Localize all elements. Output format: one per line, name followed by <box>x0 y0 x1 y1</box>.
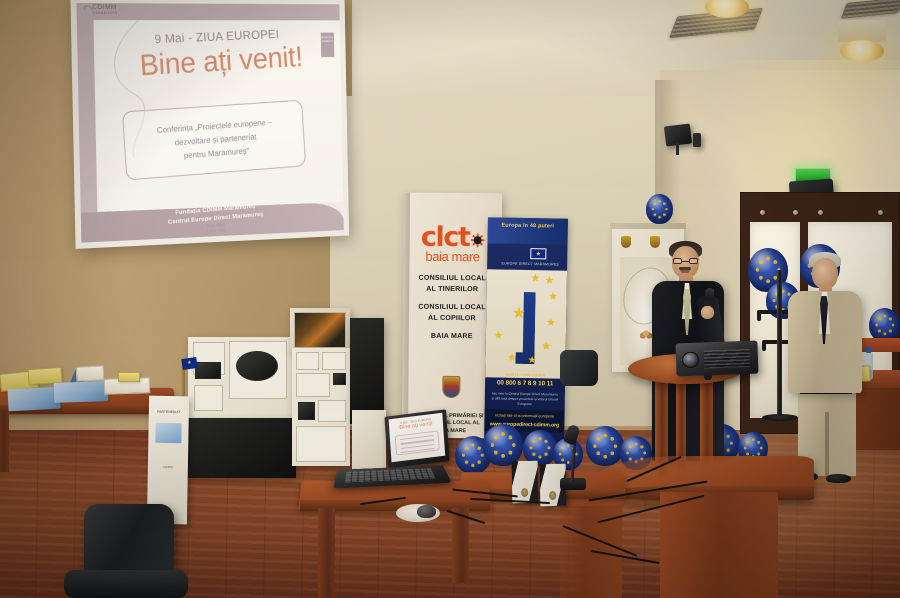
exhibit-panel-dark <box>350 318 384 424</box>
europe-direct-badge: EUROPE DIRECT <box>321 33 335 58</box>
projector-lens-icon <box>682 352 700 369</box>
projection-screen: CDIMM MARAMUREȘ EUROPE DIRECT 9 Mai - ZI… <box>70 0 349 249</box>
sketch-drawing <box>333 373 346 385</box>
banner-europe-direct: Europa în 48 puteri EUROPE DIRECT MARAMU… <box>484 217 568 444</box>
balloon <box>869 308 900 342</box>
back-desk <box>856 338 900 352</box>
door-stud-icon <box>878 210 883 215</box>
cdimm-logo-subtext: MARAMUREȘ <box>92 12 117 15</box>
banner-pole <box>402 193 410 439</box>
front-desk-pedestal <box>660 492 778 598</box>
star-icon: ★ <box>507 354 516 364</box>
sketch-drawing <box>296 352 319 370</box>
lamp-housing <box>838 20 886 42</box>
star-icon: ★ <box>545 276 554 286</box>
painting <box>294 312 346 348</box>
laptop-screen[interactable]: 9 Mai - ZIUA EUROPEI Bine ați venit! <box>384 409 449 468</box>
eu-banner-small-text: sau vino la Centrul Europe Direct Maramu… <box>489 391 561 407</box>
coat-hook-icon <box>762 342 766 351</box>
star-icon: ★ <box>549 292 558 302</box>
office-chair[interactable] <box>560 350 598 386</box>
projector-vents <box>704 349 751 369</box>
door-stud-icon <box>818 210 823 215</box>
door-stud-icon <box>760 210 765 215</box>
exhibit-panel <box>292 348 350 466</box>
exhibit-panel <box>188 337 292 423</box>
star-icon: ★ <box>546 318 555 328</box>
coat-rack <box>777 270 782 420</box>
sketch-drawing <box>322 352 346 370</box>
sketch-drawing <box>296 426 346 462</box>
sketch-drawing <box>298 402 315 420</box>
coat-rack-base <box>762 414 798 421</box>
brochure <box>54 381 109 403</box>
coat-hook-icon <box>757 312 761 321</box>
balloon <box>483 424 523 466</box>
sketch-drawing <box>194 385 223 411</box>
cdimm-logo: CDIMM MARAMUREȘ <box>92 4 117 15</box>
institution-crest-icon <box>650 236 660 248</box>
conf-line-3: pentru Maramureș" <box>184 145 250 162</box>
speaker-hand <box>701 306 714 319</box>
banner-top-bar <box>610 223 686 229</box>
star-icon: ★ <box>494 331 503 341</box>
info-card <box>118 372 140 382</box>
eu-banner-subhead: EUROPE DIRECT MARAMUREȘ <box>495 261 565 267</box>
wall-speaker-bracket <box>693 133 701 147</box>
photo-scene: CDIMM MARAMUREȘ EUROPE DIRECT 9 Mai - ZI… <box>0 0 900 598</box>
star-icon: ★ <box>527 356 536 366</box>
ceiling-lamp-icon <box>840 40 884 62</box>
sketch-drawing <box>195 362 221 379</box>
computer-mouse[interactable] <box>417 505 436 518</box>
presentation-slide: CDIMM MARAMUREȘ EUROPE DIRECT 9 Mai - ZI… <box>76 3 343 243</box>
laptop-display: 9 Mai - ZIUA EUROPEI Bine ați venit! <box>389 413 446 462</box>
star-icon: ★ <box>531 274 540 284</box>
sketch-drawing <box>318 400 346 422</box>
eu-flag-icon <box>530 248 546 259</box>
exhibit-panel <box>290 308 350 352</box>
table-leg <box>0 412 9 472</box>
sketch-drawing <box>296 373 330 397</box>
laptop-keyboard[interactable] <box>345 468 435 482</box>
sun-icon <box>470 233 484 247</box>
glasses-icon <box>673 258 698 265</box>
standee-image <box>155 423 181 443</box>
info-card <box>76 365 105 381</box>
table-leg <box>318 508 335 598</box>
institution-crest-icon <box>621 236 631 248</box>
balloon <box>586 426 624 466</box>
star-icon: ★ <box>542 342 551 352</box>
table-leg <box>452 508 469 583</box>
balloon <box>646 194 673 224</box>
standee-subtitle: CDIMM <box>148 443 188 470</box>
slide-conference-text: Conferința „Proiectele europene – dezvol… <box>123 101 305 180</box>
city-crest-icon <box>442 376 460 398</box>
star-icon: ★ <box>512 306 526 321</box>
door-stud-icon <box>793 210 798 215</box>
sketch-drawing <box>236 351 278 381</box>
eu-small-2: și află totul despre proiectele și viito… <box>489 396 561 407</box>
exhibit-panel <box>352 410 386 472</box>
projector-foot <box>704 373 712 380</box>
laptop-slide-box <box>395 431 440 456</box>
eu-stars-group: ★ ★ ★ ★ ★ ★ ★ ★ ★ <box>485 269 567 378</box>
brochure <box>7 387 60 412</box>
office-chair-seat[interactable] <box>64 570 188 598</box>
eu-phone-number: 00 800 6 7 8 9 10 11 <box>485 379 565 387</box>
standee-title: PARTENERIAT <box>149 396 189 416</box>
speaker-mouth <box>680 270 690 273</box>
trouser-seam <box>825 412 829 476</box>
banner-header-strip <box>488 217 568 244</box>
projector <box>675 341 758 377</box>
attendee-head <box>812 258 838 289</box>
speaker-mount <box>676 143 679 155</box>
eu-banner-graphic: ★ ★ ★ ★ ★ ★ ★ ★ ★ <box>485 269 567 378</box>
exhibit-panel-dark <box>186 418 296 478</box>
shoe <box>826 474 851 483</box>
eu-flag-icon <box>181 357 197 370</box>
